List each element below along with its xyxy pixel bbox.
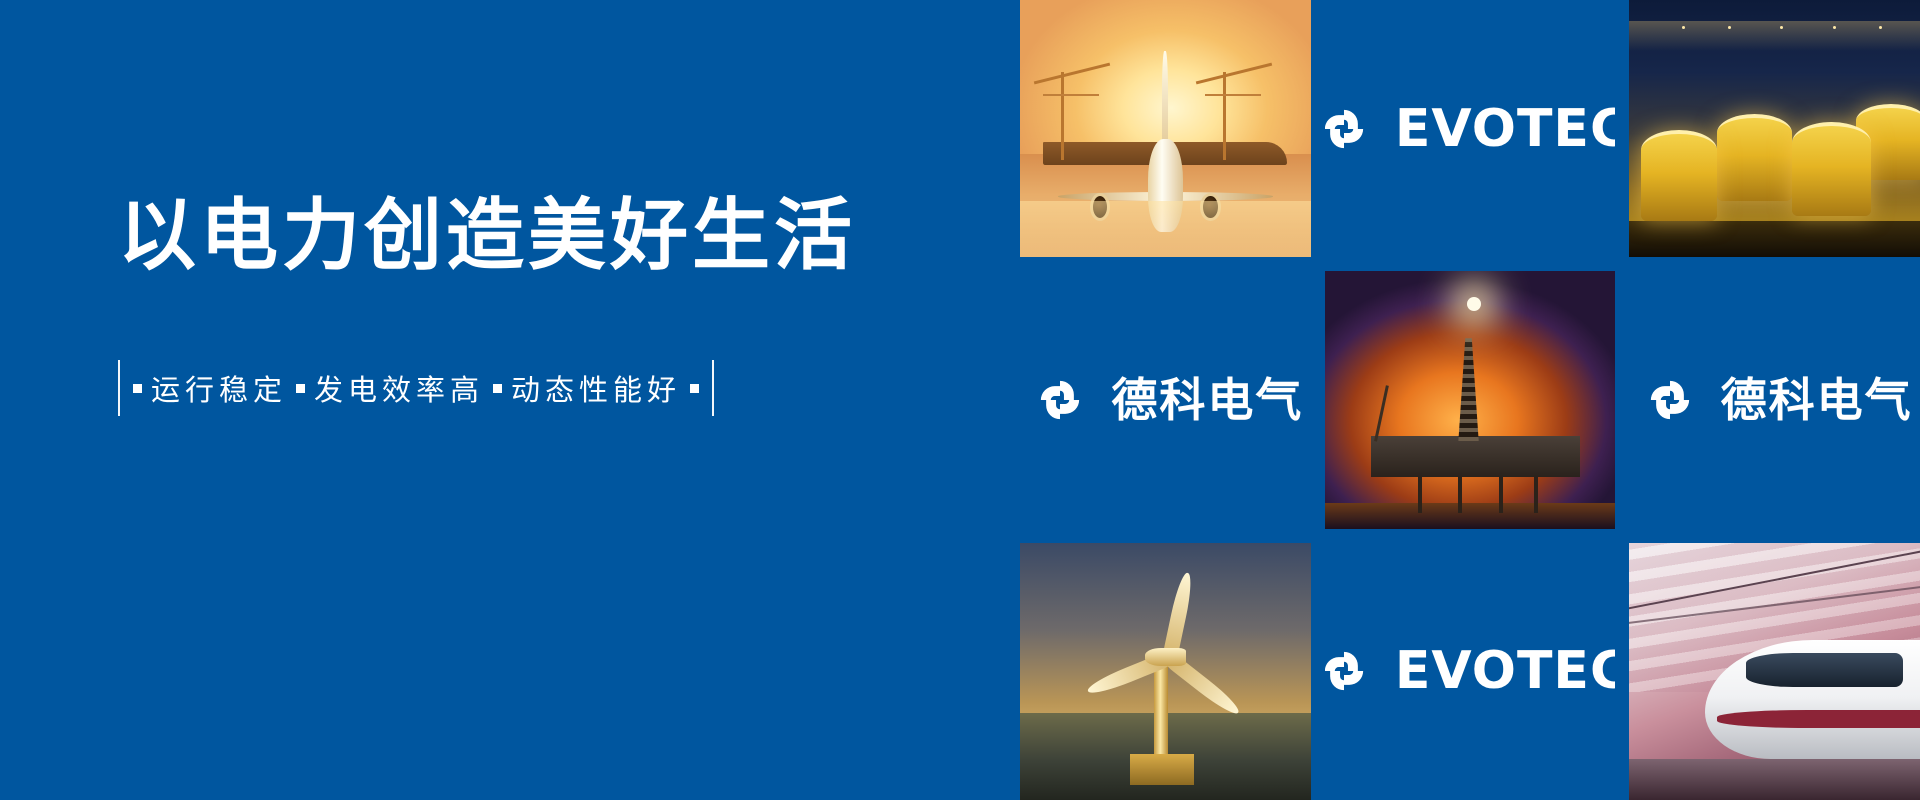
train-livery-stripe (1717, 710, 1920, 728)
brand-wordmark-en: EVOTEC (1395, 103, 1615, 155)
pinwheel-logo-icon (1027, 367, 1093, 433)
storage-tank (1641, 130, 1717, 221)
city-light (1682, 26, 1685, 29)
image-logo-grid: EVOTEC (1020, 0, 1920, 800)
divider-right (712, 360, 714, 416)
rig-platform-deck (1371, 436, 1580, 477)
turbine-base-platform (1130, 754, 1194, 785)
city-light (1833, 26, 1836, 29)
bullet-icon (133, 384, 142, 393)
turbine-tower (1154, 661, 1169, 764)
promo-banner: 以电力创造美好生活 运行稳定 发电效率高 动态性能好 (0, 0, 1920, 800)
brand-lockup-cn: 德科电气 (1637, 367, 1913, 433)
ground-reflection (1020, 201, 1311, 258)
feature-item-0: 运行稳定 (151, 367, 287, 409)
brand-wordmark-cn: 德科电气 (1721, 377, 1913, 423)
grid-cell-logo-deke-right: 德科电气 (1629, 271, 1920, 528)
grid-cell-airport-photo (1020, 0, 1311, 257)
bullet-icon (296, 384, 305, 393)
train-windshield (1746, 653, 1903, 686)
bullet-icon (690, 384, 699, 393)
feature-item-2: 动态性能好 (511, 367, 681, 409)
port-crane-icon (1061, 72, 1064, 159)
grid-cell-wind-turbine-photo (1020, 543, 1311, 800)
bullet-icon (493, 384, 502, 393)
divider-left (118, 360, 120, 416)
storage-tank (1717, 114, 1793, 200)
page-title: 以电力创造美好生活 (118, 196, 858, 274)
grid-cell-oil-tanks-photo (1629, 0, 1920, 257)
city-glow (1629, 21, 1920, 52)
pinwheel-logo-icon (1325, 96, 1377, 162)
feature-item-1: 发电效率高 (314, 367, 484, 409)
pinwheel-logo-icon (1325, 638, 1377, 704)
turbine-nacelle (1145, 648, 1186, 666)
railway-track (1629, 759, 1920, 800)
grid-cell-oil-rig-photo (1325, 271, 1616, 528)
grid-cell-train-photo (1629, 543, 1920, 800)
port-crane-icon (1223, 72, 1226, 159)
grid-cell-logo-deke-left: 德科电气 (1020, 271, 1311, 528)
storage-tank (1792, 122, 1870, 216)
grid-cell-logo-evotec-top: EVOTEC (1325, 0, 1616, 257)
brand-wordmark-cn: 德科电气 (1111, 377, 1303, 423)
hero-copy: 以电力创造美好生活 运行稳定 发电效率高 动态性能好 (118, 196, 858, 416)
waterfront (1629, 221, 1920, 257)
brand-lockup-en: EVOTEC (1325, 638, 1616, 704)
brand-lockup-cn: 德科电气 (1027, 367, 1303, 433)
city-light (1728, 26, 1731, 29)
grid-cell-logo-evotec-bottom: EVOTEC (1325, 543, 1616, 800)
brand-wordmark-en: EVOTEC (1395, 645, 1615, 697)
pinwheel-logo-icon (1637, 367, 1703, 433)
feature-list: 运行稳定 发电效率高 动态性能好 (118, 360, 858, 416)
brand-lockup-en: EVOTEC (1325, 96, 1616, 162)
sea-surface (1325, 503, 1616, 529)
